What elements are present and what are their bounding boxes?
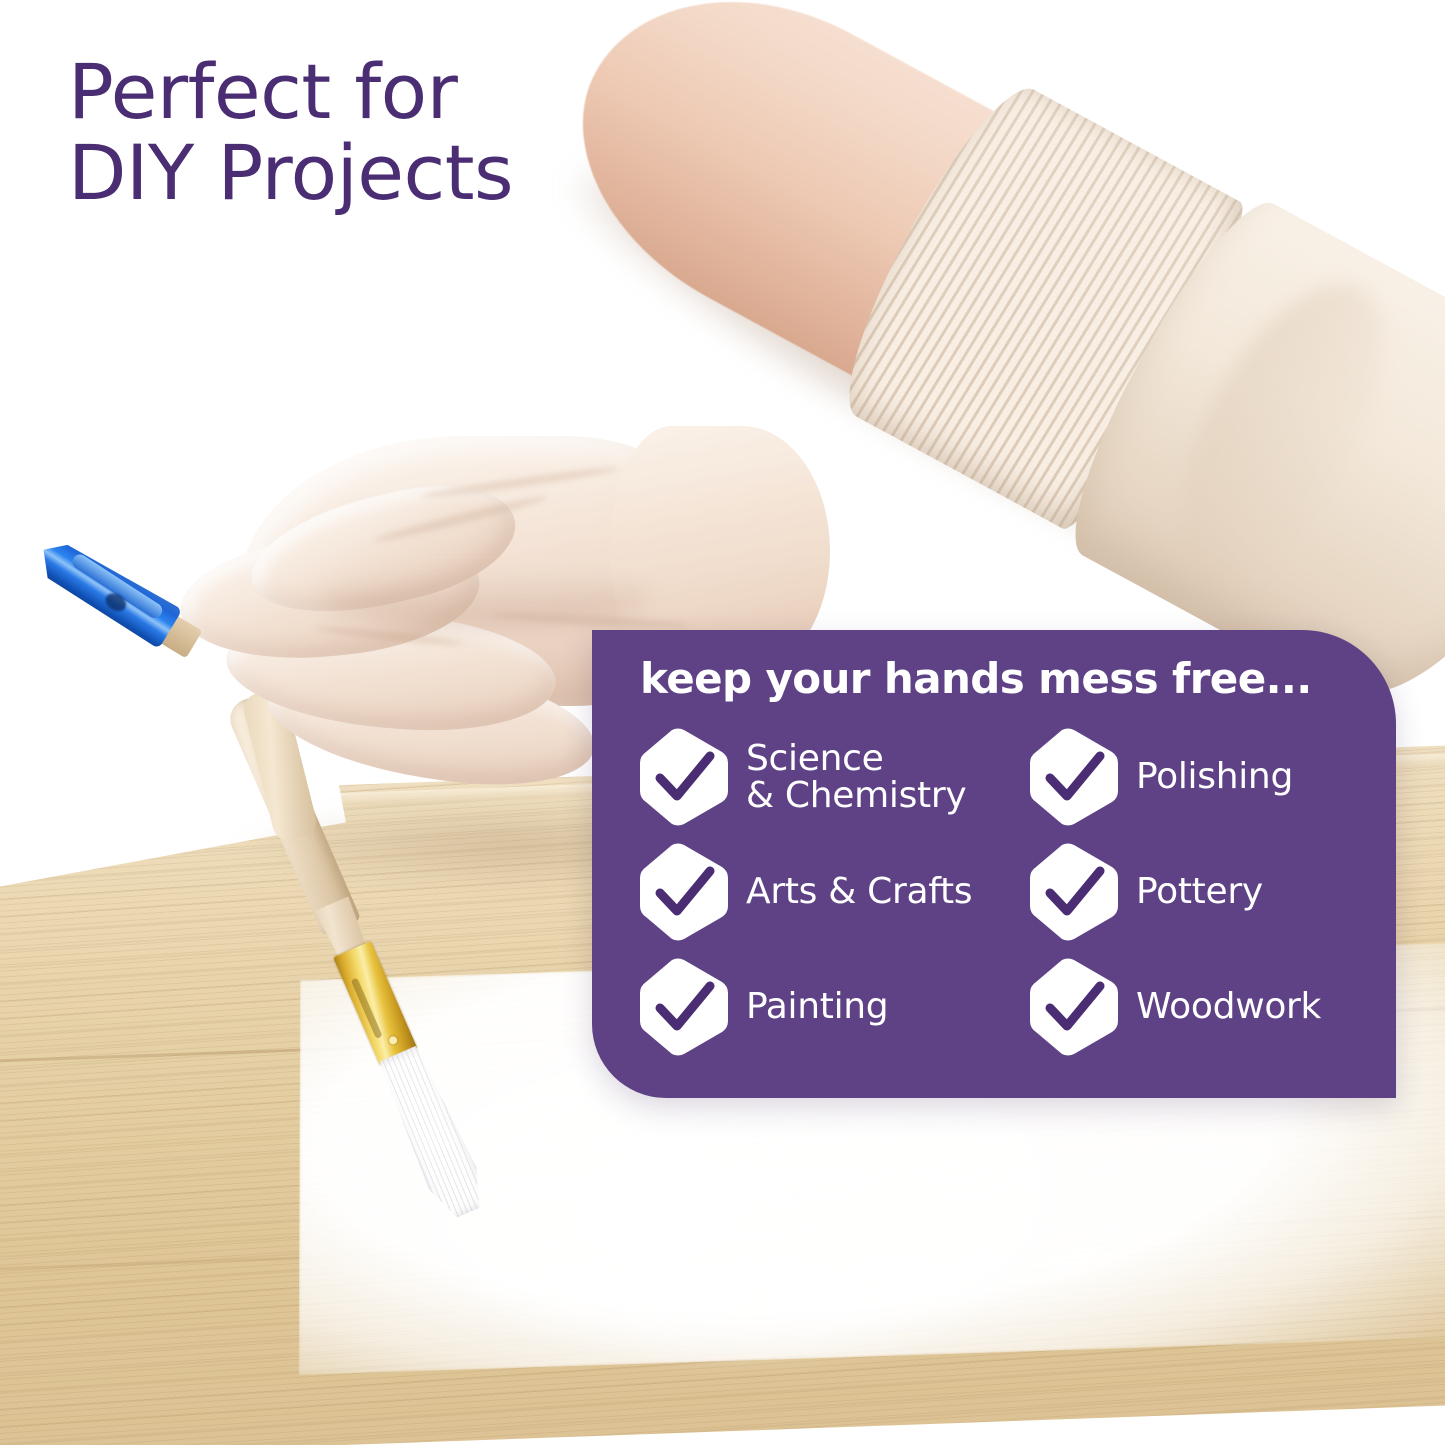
feature-item: Arts & Crafts [640, 843, 1030, 941]
check-icon [1030, 843, 1118, 941]
feature-item: Painting [640, 958, 1030, 1056]
feature-label: Woodwork [1136, 988, 1321, 1025]
feature-item: Science & Chemistry [640, 728, 1030, 826]
feature-label: Polishing [1136, 758, 1293, 795]
feature-item: Woodwork [1030, 958, 1360, 1056]
feature-item: Polishing [1030, 728, 1360, 826]
feature-item: Pottery [1030, 843, 1360, 941]
feature-label: Painting [746, 988, 888, 1025]
feature-column-left: Science & Chemistry Arts & Crafts Painti… [640, 728, 1030, 1056]
check-icon [1030, 958, 1118, 1056]
feature-label: Arts & Crafts [746, 873, 972, 910]
check-icon [640, 958, 728, 1056]
panel-title: keep your hands mess free... [640, 654, 1312, 703]
feature-label: Pottery [1136, 873, 1263, 910]
check-icon [1030, 728, 1118, 826]
check-icon [640, 843, 728, 941]
feature-label: Science & Chemistry [746, 740, 966, 815]
product-lifestyle-image: Perfect for DIY Projects keep your hands… [0, 0, 1445, 1445]
feature-column-right: Polishing Pottery Woodwork [1030, 728, 1360, 1056]
feature-columns: Science & Chemistry Arts & Crafts Painti… [640, 728, 1360, 1056]
headline: Perfect for DIY Projects [68, 52, 708, 213]
feature-panel: keep your hands mess free... Science & C… [592, 630, 1396, 1098]
check-icon [640, 728, 728, 826]
